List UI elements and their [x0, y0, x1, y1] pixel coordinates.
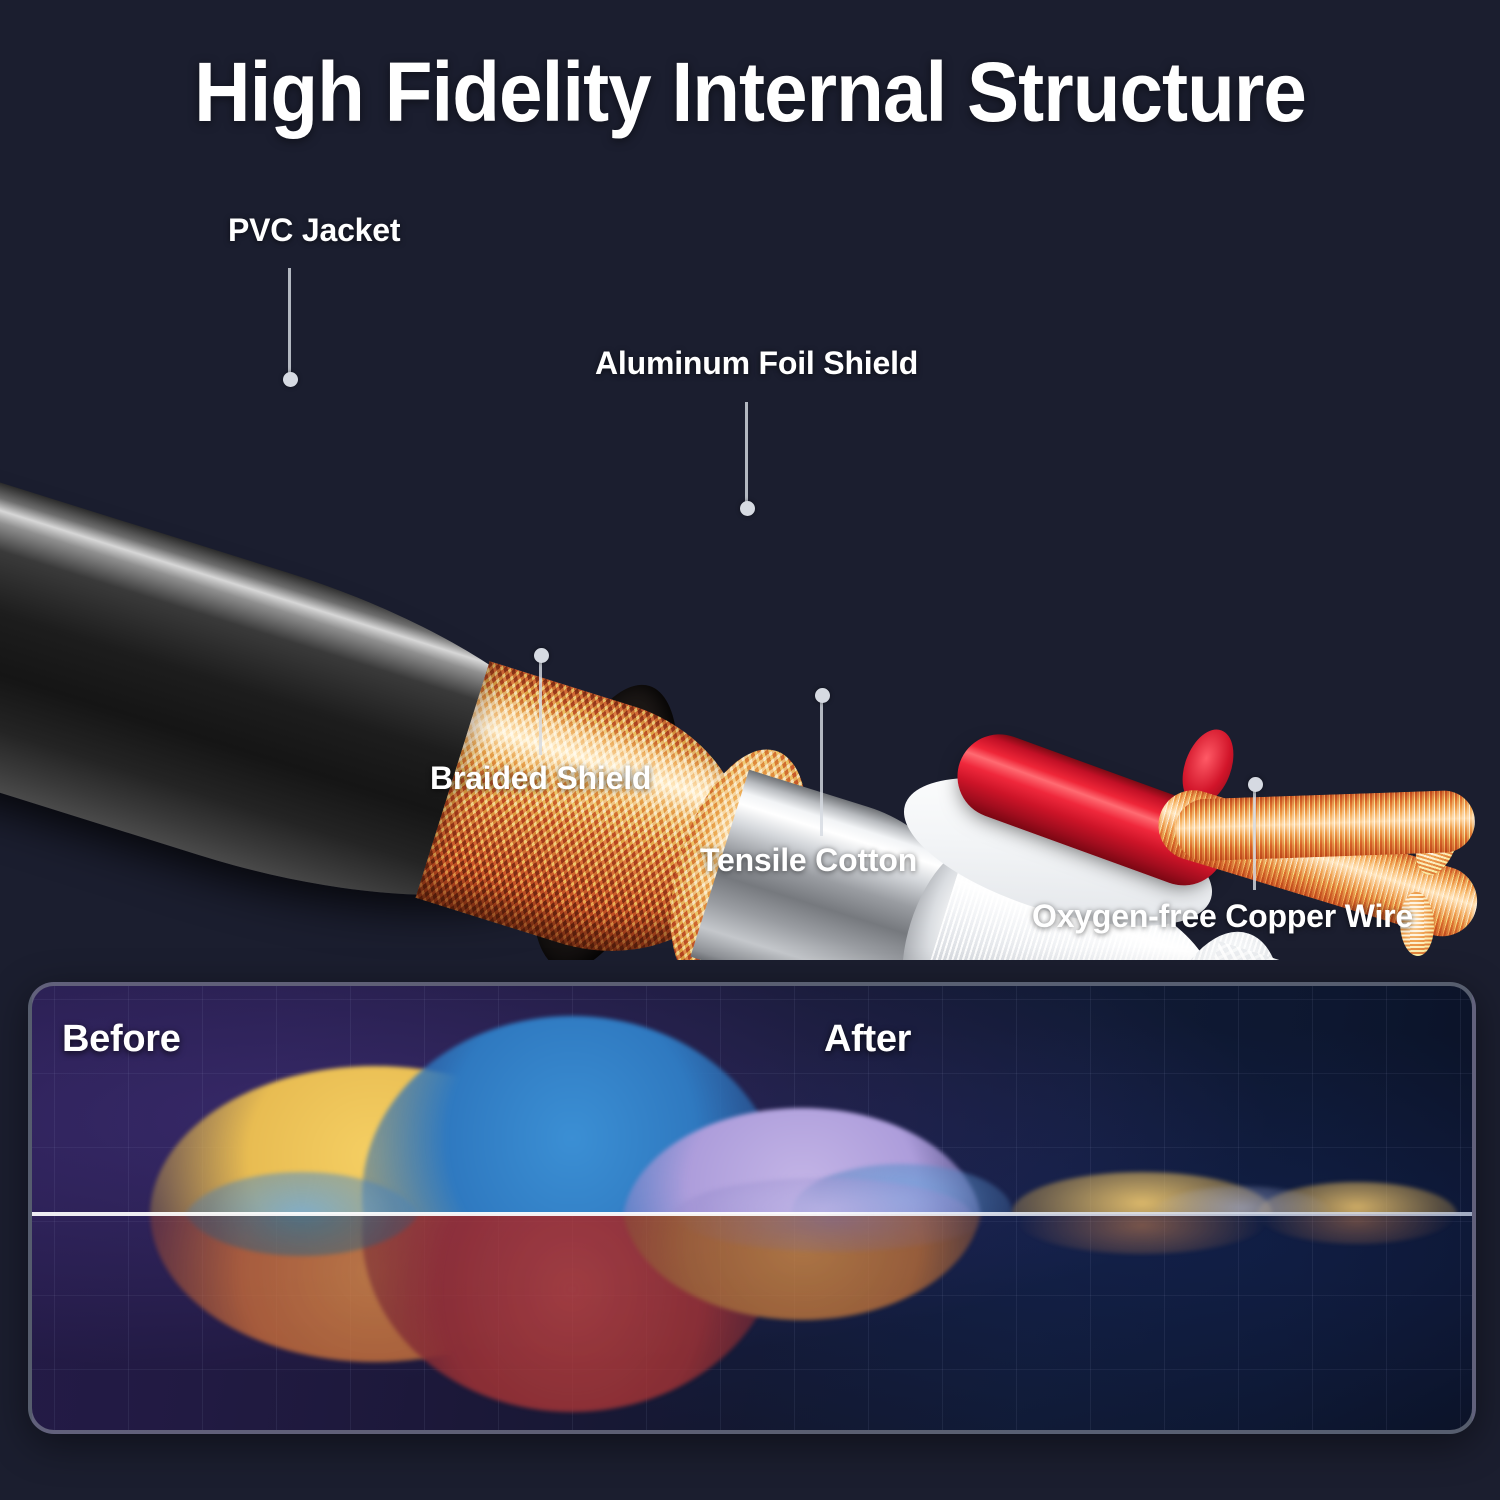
leader-line-aluminum-foil-shield: [745, 402, 748, 508]
leader-line-braided-shield: [539, 660, 542, 755]
waveform-lower-half: [32, 1214, 1472, 1434]
before-label: Before: [62, 1018, 181, 1061]
callout-label-aluminum-foil-shield: Aluminum Foil Shield: [595, 345, 918, 382]
page-title: High Fidelity Internal Structure: [53, 44, 1448, 141]
callout-label-tensile-cotton: Tensile Cotton: [700, 842, 917, 879]
leader-dot-tensile-cotton: [815, 688, 830, 703]
after-label: After: [824, 1018, 911, 1061]
leader-dot-braided-shield: [534, 648, 549, 663]
callout-label-pvc-jacket: PVC Jacket: [228, 212, 400, 249]
callout-label-oxygen-free-copper-wire: Oxygen-free Copper Wire: [1032, 898, 1413, 935]
callout-label-braided-shield: Braided Shield: [430, 760, 651, 797]
cable-cutaway-illustration: [0, 150, 1500, 960]
waveform-upper-half: [32, 986, 1472, 1214]
leader-line-pvc-jacket: [288, 268, 291, 378]
before-after-waveform-panel: Before After: [28, 982, 1476, 1434]
leader-dot-aluminum-foil-shield: [740, 501, 755, 516]
leader-dot-pvc-jacket: [283, 372, 298, 387]
leader-dot-oxygen-free-copper-wire: [1248, 777, 1263, 792]
wave-blob-mirror-after-3: [1257, 1214, 1457, 1244]
waveform-mirror: [32, 1214, 1472, 1434]
waveform-center-axis: [32, 1212, 1472, 1216]
leader-line-tensile-cotton: [820, 698, 823, 836]
leader-line-oxygen-free-copper-wire: [1253, 790, 1256, 890]
wave-blob-mirror-after-2: [1012, 1214, 1272, 1254]
copper-strand-bundle-lower: [1174, 790, 1476, 862]
